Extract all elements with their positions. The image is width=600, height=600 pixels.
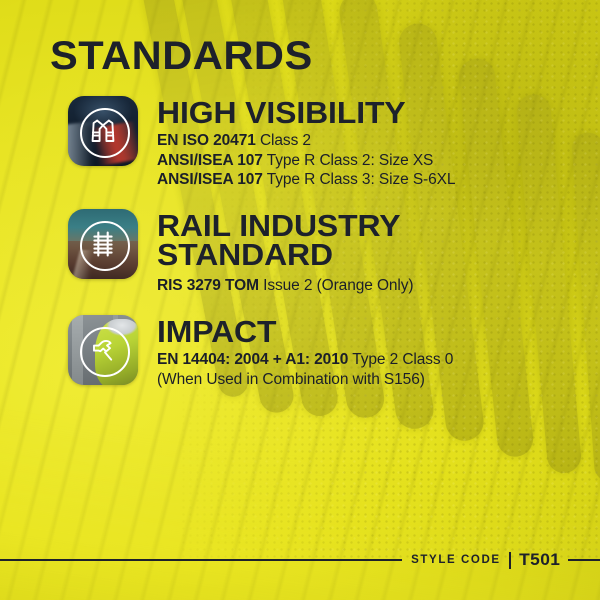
standard-text-block: IMPACT EN 14404: 2004 + A1: 2010 Type 2 … xyxy=(138,315,453,389)
standards-poster: STANDARDS xyxy=(0,0,600,600)
standard-title-line1: HIGH VISIBILITY xyxy=(157,95,406,130)
standard-item-impact: IMPACT EN 14404: 2004 + A1: 2010 Type 2 … xyxy=(0,315,600,389)
standard-text-block: RAIL INDUSTRY STANDARD RIS 3279 TOM Issu… xyxy=(138,209,414,296)
standard-specs: EN ISO 20471 Class 2 ANSI/ISEA 107 Type … xyxy=(157,131,455,190)
footer-rule-right xyxy=(568,559,600,561)
hammer-impact-icon-tile xyxy=(68,315,138,385)
spec-detail: (When Used in Combination with S156) xyxy=(157,371,425,388)
spec-code: EN ISO 20471 xyxy=(157,132,256,149)
style-code-value: T501 xyxy=(511,550,560,570)
standard-item-rail-industry-standard: RAIL INDUSTRY STANDARD RIS 3279 TOM Issu… xyxy=(0,209,600,296)
spec-line: ANSI/ISEA 107 Type R Class 2: Size XS xyxy=(157,151,455,171)
standard-title-line1: IMPACT xyxy=(157,314,276,349)
railway-track-icon-tile xyxy=(68,209,138,279)
spec-line: EN 14404: 2004 + A1: 2010 Type 2 Class 0 xyxy=(157,350,453,370)
spec-detail: Issue 2 (Orange Only) xyxy=(263,277,413,294)
hi-vis-vest-icon xyxy=(86,114,120,148)
hi-vis-vest-icon-tile xyxy=(68,96,138,166)
standard-title: RAIL INDUSTRY STANDARD xyxy=(157,211,421,269)
spec-code: EN 14404: 2004 + A1: 2010 xyxy=(157,351,348,368)
standard-title: HIGH VISIBILITY xyxy=(157,98,464,127)
standard-item-high-visibility: HIGH VISIBILITY EN ISO 20471 Class 2 ANS… xyxy=(0,96,600,190)
spec-code: ANSI/ISEA 107 xyxy=(157,171,263,188)
spec-code: RIS 3279 TOM xyxy=(157,277,259,294)
spec-line: EN ISO 20471 Class 2 xyxy=(157,131,455,151)
spec-detail: Type R Class 2: Size XS xyxy=(267,152,434,169)
page-title: STANDARDS xyxy=(50,36,313,76)
spec-detail: Type R Class 3: Size S-6XL xyxy=(267,171,456,188)
spec-detail: Class 2 xyxy=(260,132,311,149)
style-code: STYLE CODE T501 xyxy=(402,550,568,570)
spec-code: ANSI/ISEA 107 xyxy=(157,152,263,169)
standards-list: HIGH VISIBILITY EN ISO 20471 Class 2 ANS… xyxy=(0,96,600,409)
footer-style-code-bar: STYLE CODE T501 xyxy=(0,552,600,568)
spec-line: ANSI/ISEA 107 Type R Class 3: Size S-6XL xyxy=(157,170,455,190)
hammer-impact-icon xyxy=(86,333,120,367)
spec-line: (When Used in Combination with S156) xyxy=(157,370,453,390)
standard-title-line2: STANDARD xyxy=(157,240,421,269)
standard-specs: RIS 3279 TOM Issue 2 (Orange Only) xyxy=(157,276,414,296)
standard-specs: EN 14404: 2004 + A1: 2010 Type 2 Class 0… xyxy=(157,350,453,389)
style-code-label: STYLE CODE xyxy=(411,554,508,566)
footer-rule-left xyxy=(0,559,402,561)
railway-track-icon xyxy=(86,227,120,261)
spec-line: RIS 3279 TOM Issue 2 (Orange Only) xyxy=(157,276,414,296)
standard-text-block: HIGH VISIBILITY EN ISO 20471 Class 2 ANS… xyxy=(138,96,455,190)
spec-detail: Type 2 Class 0 xyxy=(352,351,453,368)
standard-title: IMPACT xyxy=(157,317,462,346)
